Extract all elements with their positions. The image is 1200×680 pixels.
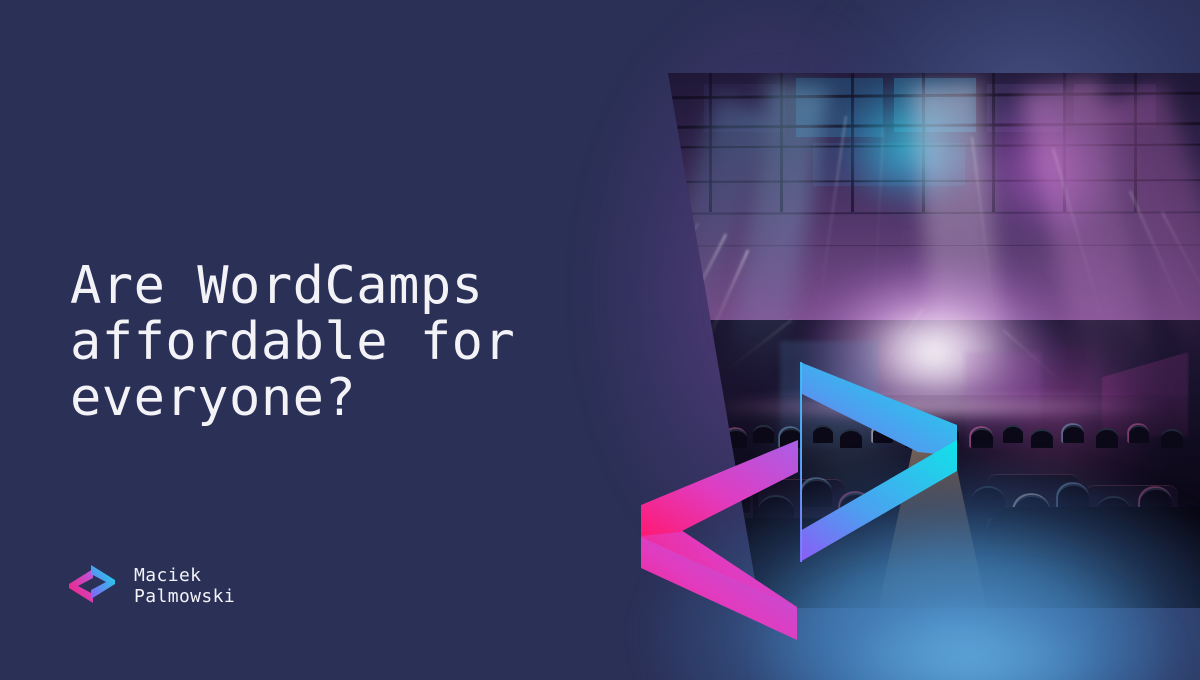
brand-logo[interactable]: Maciek Palmowski bbox=[68, 560, 235, 612]
page-title: Are WordCamps affordable for everyone? bbox=[70, 258, 590, 426]
slide-canvas: Are WordCamps affordable for everyone? M… bbox=[0, 0, 1200, 680]
brand-name: Maciek Palmowski bbox=[134, 565, 235, 607]
code-chevron-logo-icon bbox=[68, 560, 116, 612]
bottom-right-blue-glow-core bbox=[740, 580, 1200, 680]
